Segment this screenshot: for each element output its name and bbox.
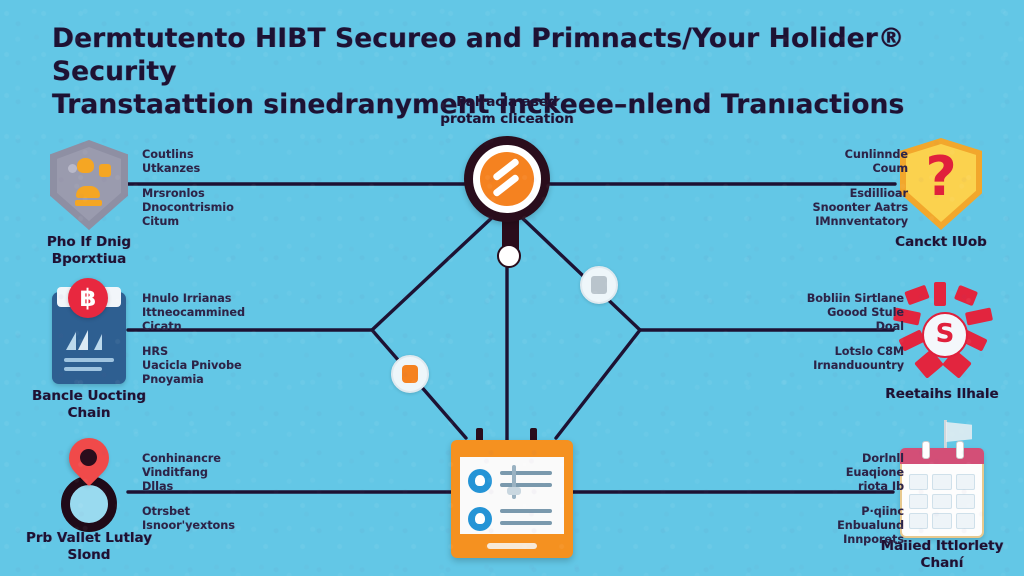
center-caption-line-1: Palracla ased — [456, 94, 557, 110]
right-bottom-text-below: P·qiinc Enbualund Innporets — [786, 505, 904, 547]
calendar-cell — [909, 513, 928, 529]
center-node-caption: Palracla ased protam cliceation — [440, 94, 573, 128]
left-top-caption-line-1: Pho If Dnig — [47, 234, 131, 250]
flask-node[interactable] — [391, 355, 429, 393]
document-footer-bar — [487, 543, 537, 549]
gear-node[interactable] — [580, 266, 618, 304]
junction-dot-icon — [497, 244, 521, 268]
left-top-text-block: Coutlins Utkanzes Mrsronlos Dnocontrismi… — [142, 148, 260, 229]
calendar-cell — [932, 513, 951, 529]
question-mark-icon: ? — [900, 150, 982, 204]
right-bottom-text-above: Dorlnll Euaqione riota Ib — [786, 452, 904, 494]
clipboard-line-1 — [64, 358, 114, 362]
grey-shield-icon — [50, 140, 128, 230]
right-middle-text-block: Bobliin Sirtlane Goood Stule Doal Lotslo… — [786, 292, 904, 373]
shield-base-icon — [76, 186, 100, 198]
left-node-middle[interactable]: ฿ Bancle Uocting Chain — [52, 292, 126, 384]
calendar-cell — [956, 474, 975, 490]
document-line-3 — [500, 509, 552, 513]
slider-knob-icon — [507, 487, 521, 495]
calendar-cell — [909, 494, 928, 510]
shield-ray-5 — [965, 307, 993, 325]
left-middle-text-block: Hnulo Irrianas Ittneocammined Cicatn HRS… — [142, 292, 260, 387]
calendar-header — [900, 448, 984, 464]
magnifier-percent-icon — [464, 136, 550, 222]
ship-icon — [64, 326, 114, 352]
avatar-icon-top — [468, 469, 492, 493]
right-bottom-text-block: Dorlnll Euaqione riota Ib P·qiinc Enbual… — [786, 452, 904, 547]
right-node-bottom[interactable]: Maiied Ittlorlety Chaní — [900, 448, 984, 538]
left-node-bottom[interactable]: Prb Vallet Lutlay Slond — [52, 438, 126, 530]
right-mid-text-above: Bobliin Sirtlane Goood Stule Doal — [786, 292, 904, 334]
right-bottom-caption-line-2: Chaní — [921, 555, 964, 571]
left-mid-text-below: HRS Uacicla Pnivobe Pnoyamia — [142, 345, 260, 387]
right-node-middle-caption: Reetaihs Ilhale — [885, 386, 998, 403]
shield-center-letter-icon: S — [922, 312, 968, 358]
left-bottom-caption-line-2: Slond — [68, 547, 111, 563]
calendar-cell — [956, 494, 975, 510]
calendar-icon — [900, 448, 984, 538]
pin-dot-icon — [80, 449, 97, 466]
right-top-text-block: Cunlinnde Coum Esdillioar Snoonter Aatrs… — [790, 148, 908, 229]
edge-center-to-left-diagonal — [372, 212, 498, 330]
calendar-cell — [909, 474, 928, 490]
left-bottom-text-below: Otrsbet Isnoor'yextons — [142, 505, 260, 533]
gear-icon — [591, 276, 607, 294]
flask-icon — [402, 365, 418, 383]
calendar-cell — [956, 513, 975, 529]
right-mid-text-below: Lotslo C8M Irnanduountry — [786, 345, 904, 373]
left-top-text-below: Mrsronlos Dnocontrismio Citum — [142, 187, 260, 229]
right-top-text-above: Cunlinnde Coum — [790, 148, 908, 176]
shield-ray-1 — [904, 285, 929, 306]
avatar-icon-bottom — [468, 507, 492, 531]
infographic-canvas: Dermtutento HIBT Secureo and Primnacts/Y… — [0, 0, 1024, 576]
document-profile-icon — [451, 440, 573, 558]
map-pin-icon — [52, 438, 126, 530]
bitcoin-clipboard-icon: ฿ — [52, 292, 126, 384]
center-caption-line-2: protam cliceation — [440, 111, 573, 127]
clipboard-line-2 — [64, 367, 102, 371]
flag-icon — [946, 422, 972, 442]
left-bottom-text-block: Conhinancre Vinditfang Dllas Otrsbet Isn… — [142, 452, 260, 533]
shield-badge-icon — [99, 164, 111, 177]
calendar-peg-left — [922, 441, 930, 459]
left-mid-caption-line-1: Bancle Uocting — [32, 388, 146, 404]
calendar-grid — [909, 474, 975, 529]
document-line-1 — [500, 471, 552, 475]
edge-center-to-right-diagonal — [516, 212, 640, 330]
document-page — [460, 457, 564, 534]
left-bottom-text-above: Conhinancre Vinditfang Dllas — [142, 452, 260, 494]
bitcoin-icon: ฿ — [68, 278, 108, 318]
calendar-peg-right — [956, 441, 964, 459]
shield-bar-icon — [75, 200, 102, 206]
left-node-top[interactable]: Pho If Dnig Bporxtiua — [50, 140, 128, 230]
red-network-shield-icon: S — [888, 282, 996, 386]
left-node-top-caption: Pho If Dnig Bporxtiua — [47, 234, 131, 268]
right-node-top-caption: Canckt IUob — [895, 234, 987, 251]
left-mid-text-above: Hnulo Irrianas Ittneocammined Cicatn — [142, 292, 260, 334]
left-node-middle-caption: Bancle Uocting Chain — [32, 388, 146, 422]
left-bottom-caption-line-1: Prb Vallet Lutlay — [26, 530, 152, 546]
document-line-4 — [500, 521, 552, 525]
left-mid-caption-line-2: Chain — [68, 405, 111, 421]
calendar-cell — [932, 494, 951, 510]
shield-ray-2 — [934, 282, 946, 306]
yellow-question-shield-icon: ? — [900, 138, 982, 230]
right-node-top[interactable]: ? Canckt IUob — [900, 138, 982, 230]
shield-ray-3 — [954, 285, 978, 306]
bottom-document-node[interactable] — [451, 440, 573, 558]
left-top-caption-line-2: Bporxtiua — [52, 251, 126, 267]
center-node[interactable]: Palracla ased protam cliceation — [464, 136, 550, 222]
right-top-text-below: Esdillioar Snoonter Aatrs IMnnventatory — [790, 187, 908, 229]
shield-emblem-icon — [77, 158, 94, 173]
right-node-middle[interactable]: S Reetaihs Ilhale — [888, 282, 996, 386]
left-top-text-above: Coutlins Utkanzes — [142, 148, 260, 176]
shield-dot-icon — [68, 164, 77, 173]
calendar-cell — [932, 474, 951, 490]
edge-right-diagonal-to-doc — [556, 330, 640, 438]
left-node-bottom-caption: Prb Vallet Lutlay Slond — [26, 530, 152, 564]
